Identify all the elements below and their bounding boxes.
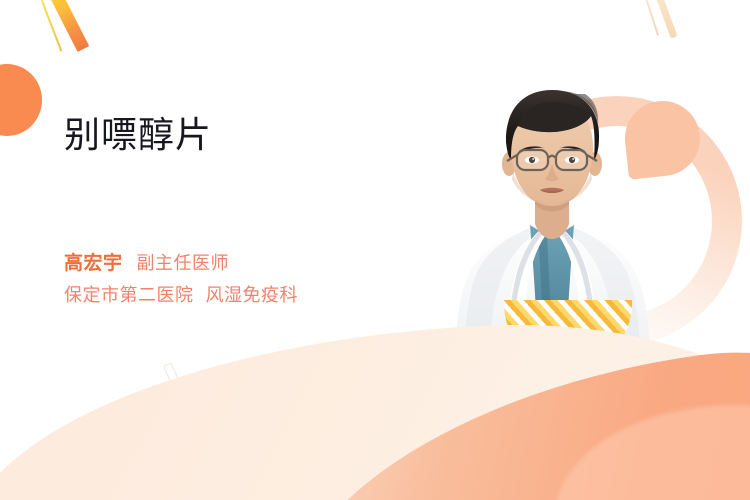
pale-stripe-decoration <box>651 0 677 39</box>
orange-circle-decoration <box>0 64 42 136</box>
doctor-name: 高宏宇 <box>64 253 123 274</box>
wave-highlight-decoration <box>555 405 750 500</box>
doctor-primary-row: 高宏宇副主任医师 <box>64 248 444 280</box>
page-title: 别嘌醇片 <box>64 112 424 158</box>
doctor-info-block: 高宏宇副主任医师 保定市第二医院风湿免疫科 <box>64 248 444 312</box>
doctor-intro-card: 别嘌醇片 高宏宇副主任医师 保定市第二医院风湿免疫科 <box>0 0 750 500</box>
doctor-hospital: 保定市第二医院 <box>64 285 194 305</box>
thin-yellow-line-decoration <box>36 0 62 51</box>
doctor-secondary-row: 保定市第二医院风湿免疫科 <box>64 280 444 312</box>
doctor-department: 风湿免疫科 <box>206 285 299 305</box>
title-block: 别嘌醇片 <box>64 112 424 158</box>
outline-parallelogram-decoration <box>163 362 187 400</box>
diagonal-stripe-decoration <box>44 0 89 52</box>
pale-thin-line-decoration <box>641 0 659 35</box>
doctor-title: 副主任医师 <box>137 253 230 273</box>
